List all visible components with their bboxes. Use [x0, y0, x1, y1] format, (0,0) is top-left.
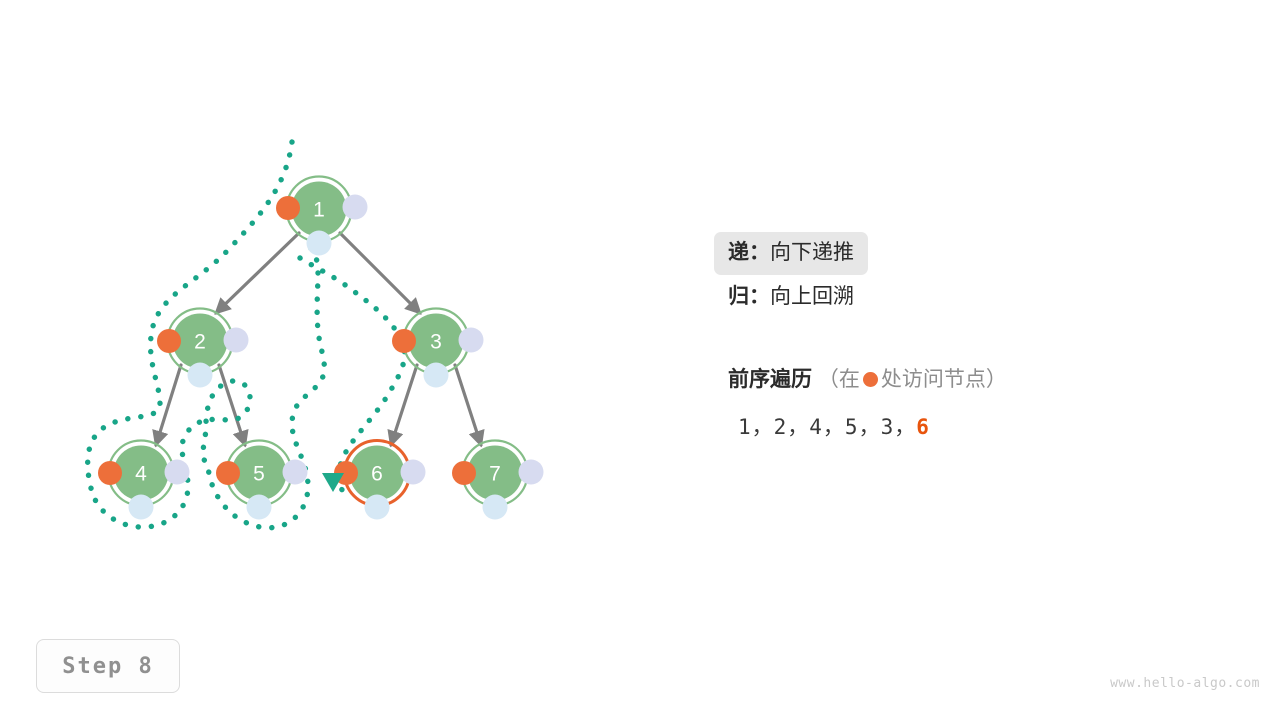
traversal-sequence: 1，2，4，5，3，6: [738, 411, 930, 441]
node-1-bottom-port: [307, 231, 332, 256]
node-7-bottom-port: [483, 495, 508, 520]
node-2-visit-dot: [157, 329, 181, 353]
node-3-visit-dot: [392, 329, 416, 353]
node-5-visit-dot: [216, 461, 240, 485]
node-4-bottom-port: [129, 495, 154, 520]
node-2-bottom-port: [188, 363, 213, 388]
sequence-current: 6: [916, 415, 930, 439]
traversal-note-after: 处访问节点）: [881, 368, 1007, 391]
legend-backtrack-key: 归：: [728, 285, 770, 308]
node-7-label: 7: [489, 463, 501, 486]
node-6-label: 6: [371, 463, 383, 486]
node-3-label: 3: [430, 331, 442, 354]
node-4-visit-dot: [98, 461, 122, 485]
traversal-note-before: （在: [818, 368, 860, 391]
node-6-right-port: [401, 460, 426, 485]
legend-item-backtrack: 归：向上回溯: [728, 282, 1228, 312]
tree-node-2[interactable]: 2: [157, 309, 249, 388]
node-5-label: 5: [253, 463, 265, 486]
tree-node-7[interactable]: 7: [452, 441, 544, 520]
tree-node-5[interactable]: 5: [216, 441, 308, 520]
legend-panel: 递：向下递推 归：向上回溯: [728, 232, 1228, 331]
node-1-visit-dot: [276, 196, 300, 220]
legend-recurse-text: 向下递推: [770, 241, 854, 264]
node-1-label: 1: [313, 199, 325, 222]
node-6-bottom-port: [365, 495, 390, 520]
node-4-right-port: [165, 460, 190, 485]
node-2-label: 2: [194, 331, 206, 354]
sequence-visited: 1，2，4，5，3，: [738, 415, 916, 439]
legend-backtrack-text: 向上回溯: [770, 285, 854, 308]
tree-node-3[interactable]: 3: [392, 309, 484, 388]
edge-1-3: [340, 233, 420, 313]
edge-3-7: [455, 365, 481, 445]
orange-dot-icon: [863, 372, 878, 387]
node-2-right-port: [224, 328, 249, 353]
node-4-label: 4: [135, 463, 147, 486]
node-3-bottom-port: [424, 363, 449, 388]
node-7-visit-dot: [452, 461, 476, 485]
tree-node-4[interactable]: 4: [98, 441, 190, 520]
step-badge: Step 8: [36, 639, 180, 693]
node-3-right-port: [459, 328, 484, 353]
edge-1-2: [216, 233, 299, 313]
legend-item-recurse: 递：向下递推: [714, 232, 868, 275]
watermark: www.hello-algo.com: [1110, 676, 1260, 691]
traversal-title: 前序遍历: [728, 368, 812, 391]
node-7-right-port: [519, 460, 544, 485]
node-1-right-port: [343, 195, 368, 220]
tree-diagram-canvas: 1 2 3 4 5: [0, 0, 1280, 720]
legend-recurse-key: 递：: [728, 241, 770, 264]
node-5-bottom-port: [247, 495, 272, 520]
traversal-heading: 前序遍历 （在处访问节点）: [728, 363, 1007, 393]
node-5-right-port: [283, 460, 308, 485]
edge-2-5: [219, 365, 245, 445]
edge-3-6: [391, 365, 417, 445]
